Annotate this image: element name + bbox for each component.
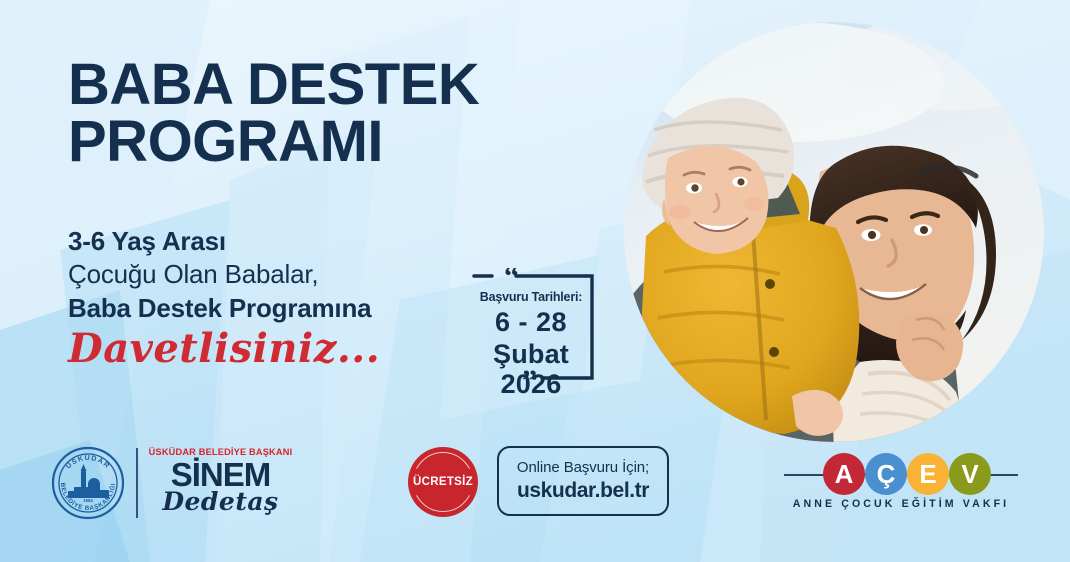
free-badge: ÜCRETSİZ bbox=[408, 447, 478, 517]
online-application-box[interactable]: Online Başvuru İçin; uskudar.bel.tr bbox=[497, 446, 669, 516]
mayor-surname: Dedetaş bbox=[148, 489, 293, 514]
application-dates-month: Şubat 2026 bbox=[470, 339, 592, 399]
subtitle-block: 3-6 Yaş Arası Çocuğu Olan Babalar, Baba … bbox=[68, 225, 380, 371]
promo-banner: BABA DESTEK PROGRAMI 3-6 Yaş Arası Çocuğ… bbox=[0, 0, 1070, 562]
application-url[interactable]: uskudar.bel.tr bbox=[517, 478, 649, 503]
mayor-logo: ÜSKÜDAR BELEDİYE BAŞKANI SİNEM Dedetaş bbox=[148, 447, 293, 514]
application-dates-label: Başvuru Tarihleri: bbox=[470, 290, 592, 305]
free-badge-label: ÜCRETSİZ bbox=[408, 447, 478, 517]
acev-logo: A Ç E V ANNE ÇOCUK EĞİTİM VAKFI bbox=[782, 452, 1020, 518]
application-dates-range: 6 - 28 bbox=[470, 307, 592, 339]
father-and-child-photo bbox=[624, 22, 1044, 442]
svg-text:E: E bbox=[919, 459, 936, 489]
subtitle-line-3: Baba Destek Programına bbox=[68, 292, 380, 325]
uskudar-municipality-seal-icon: ÜSKÜDAR BELEDİYE BAŞKANLIĞI 1984 bbox=[50, 445, 126, 521]
page-title: BABA DESTEK PROGRAMI bbox=[68, 57, 479, 171]
subtitle-line-2: Çocuğu Olan Babalar, bbox=[68, 258, 380, 291]
svg-text:V: V bbox=[961, 459, 979, 489]
svg-text:ÜSKÜDAR: ÜSKÜDAR bbox=[64, 453, 112, 470]
online-application-caption: Online Başvuru İçin; bbox=[517, 459, 649, 478]
acev-tagline: ANNE ÇOCUK EĞİTİM VAKFI bbox=[782, 498, 1020, 510]
logo-divider bbox=[136, 448, 138, 518]
subtitle-script-invitation: Davetlisiniz... bbox=[68, 327, 380, 371]
application-dates-box: “ ” Başvuru Tarihleri: 6 - 28 Şubat 2026 bbox=[470, 268, 600, 386]
subtitle-line-1: 3-6 Yaş Arası bbox=[68, 225, 380, 258]
svg-text:A: A bbox=[835, 459, 854, 489]
svg-text:1984: 1984 bbox=[83, 498, 93, 503]
svg-text:Ç: Ç bbox=[877, 459, 896, 489]
